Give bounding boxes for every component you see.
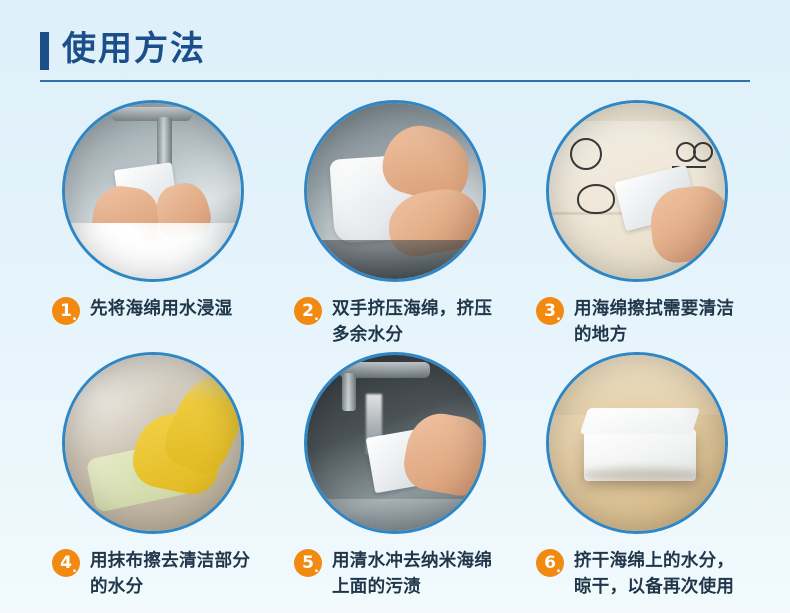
step-item-2: 2. 双手挤压海绵，挤压 多余水分: [290, 100, 518, 348]
step-caption-1: 1. 先将海绵用水浸湿: [48, 296, 276, 340]
step-number-1: 1: [60, 301, 72, 321]
step-photo-1: [62, 100, 244, 282]
step-number-5: 5: [302, 553, 314, 573]
step-caption-4: 4. 用抹布擦去清洁部分 的水分: [48, 548, 276, 600]
step-photo-4: [62, 352, 244, 534]
scene-rinsing-sponge-under-faucet: [65, 103, 241, 279]
header-divider: [40, 80, 750, 82]
step-item-4: 4. 用抹布擦去清洁部分 的水分: [48, 352, 276, 600]
step-item-3: 3. 用海绵擦拭需要清洁 的地方: [532, 100, 760, 348]
badge-dot: .: [72, 310, 77, 323]
step-number-badge-2: 2.: [294, 297, 322, 325]
step-caption-3: 3. 用海绵擦拭需要清洁 的地方: [532, 296, 760, 348]
badge-dot: .: [314, 562, 319, 575]
step-text-1: 先将海绵用水浸湿: [90, 296, 276, 322]
badge-dot: .: [556, 310, 561, 323]
scene-dry-sponge-block-on-wood: [549, 355, 725, 531]
scene-hands-squeezing-sponge: [307, 103, 483, 279]
step-number-4: 4: [60, 553, 72, 573]
step-text-6: 挤干海绵上的水分， 晾干，以备再次使用: [574, 548, 760, 600]
step-item-6: 6. 挤干海绵上的水分， 晾干，以备再次使用: [532, 352, 760, 600]
badge-dot: .: [314, 310, 319, 323]
step-number-badge-4: 4.: [52, 549, 80, 577]
step-item-1: 1. 先将海绵用水浸湿: [48, 100, 276, 340]
badge-dot: .: [72, 562, 77, 575]
usage-instructions-page: 使用方法 1. 先将海绵用水浸湿: [0, 0, 790, 613]
step-caption-5: 5. 用清水冲去纳米海绵 上面的污渍: [290, 548, 518, 600]
step-number-badge-1: 1.: [52, 297, 80, 325]
step-caption-2: 2. 双手挤压海绵，挤压 多余水分: [290, 296, 518, 348]
step-photo-6: [546, 352, 728, 534]
step-number-badge-5: 5.: [294, 549, 322, 577]
steps-grid: 1. 先将海绵用水浸湿 2. 双手挤压海绵，挤压 多余水分: [40, 96, 752, 596]
step-item-5: 5. 用清水冲去纳米海绵 上面的污渍: [290, 352, 518, 600]
step-photo-2: [304, 100, 486, 282]
page-header: 使用方法: [40, 28, 750, 84]
step-number-3: 3: [544, 301, 556, 321]
step-number-badge-3: 3.: [536, 297, 564, 325]
step-caption-6: 6. 挤干海绵上的水分， 晾干，以备再次使用: [532, 548, 760, 600]
page-title: 使用方法: [62, 26, 206, 72]
scene-rinsing-sponge-in-sink: [307, 355, 483, 531]
step-text-2: 双手挤压海绵，挤压 多余水分: [332, 296, 518, 348]
step-text-3: 用海绵擦拭需要清洁 的地方: [574, 296, 760, 348]
scene-gloved-hand-with-cloth: [65, 355, 241, 531]
step-number-2: 2: [302, 301, 314, 321]
badge-dot: .: [556, 562, 561, 575]
step-number-6: 6: [544, 553, 556, 573]
title-accent-bar: [40, 32, 49, 70]
step-text-5: 用清水冲去纳米海绵 上面的污渍: [332, 548, 518, 600]
step-photo-3: [546, 100, 728, 282]
step-text-4: 用抹布擦去清洁部分 的水分: [90, 548, 276, 600]
scene-wiping-doodled-wall: [549, 103, 725, 279]
step-photo-5: [304, 352, 486, 534]
step-number-badge-6: 6.: [536, 549, 564, 577]
